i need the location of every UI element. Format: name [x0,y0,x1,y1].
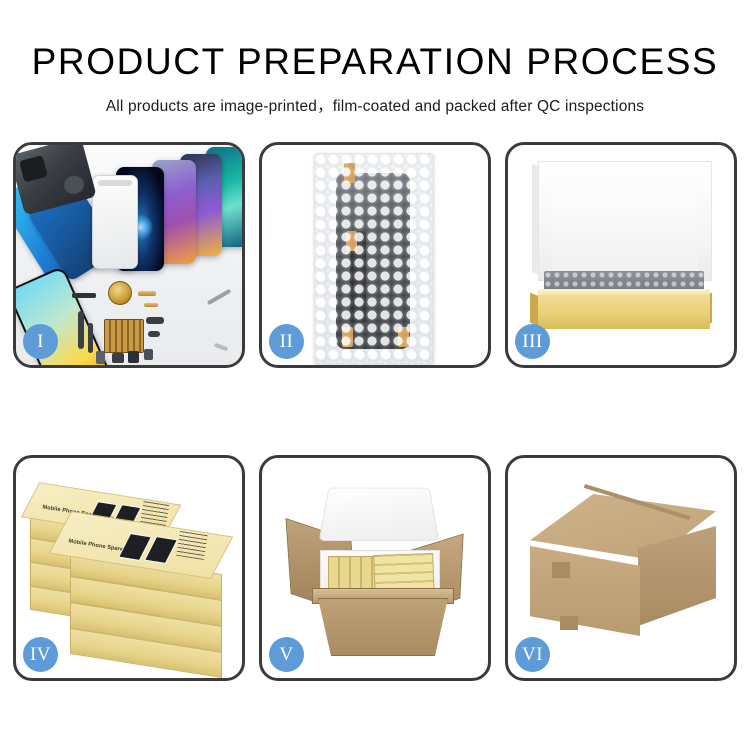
small-part-f [128,351,139,363]
carton-body [318,598,448,656]
yellow-box-front [538,295,710,329]
connector-tab-mid [346,231,357,251]
step-badge-5: V [269,637,304,672]
flex-cable-b [88,323,93,353]
step-badge-4: IV [23,637,58,672]
process-step-panel-6: VI [505,455,737,681]
flex-cable-c [146,317,164,324]
carton-tape-upper [552,562,570,578]
carton-tape-lower [560,616,578,630]
process-steps-grid: I II III [13,142,737,681]
wrapped-lcd-part [336,173,410,349]
flex-cable-a [78,311,84,349]
small-part-c [144,303,158,307]
step-badge-1: I [23,324,58,359]
small-part-e [112,353,124,363]
flex-cable-d [148,331,160,337]
process-step-panel-2: II [259,142,491,368]
process-step-panel-1: I [13,142,245,368]
process-step-panel-3: III [505,142,737,368]
foam-padding [552,191,698,277]
box-label-text-block-b [176,530,208,560]
chip-grid-part [104,319,144,353]
connector-tab-top [344,163,355,183]
process-step-panel-4: Mobile Phone Spare Parts Mobile Phone Sp… [13,455,245,681]
small-part-b [138,291,156,296]
carton-front-face [530,546,640,636]
small-part-d [96,351,105,364]
page-subtitle: All products are image-printed，film-coat… [0,82,750,116]
step-badge-3: III [515,324,550,359]
connector-tab-bottom-left [342,327,353,347]
foam-box-lid [319,488,440,541]
page-header: PRODUCT PREPARATION PROCESS All products… [0,0,750,116]
glass-screen-protector [92,175,138,269]
step-badge-2: II [269,324,304,359]
small-part-g [144,349,153,360]
process-step-panel-5: V [259,455,491,681]
connector-tab-bottom-right [398,327,409,347]
page-title: PRODUCT PREPARATION PROCESS [0,0,750,82]
vibration-motor-part [108,281,132,305]
step-badge-6: VI [515,637,550,672]
small-part-a [72,293,96,298]
